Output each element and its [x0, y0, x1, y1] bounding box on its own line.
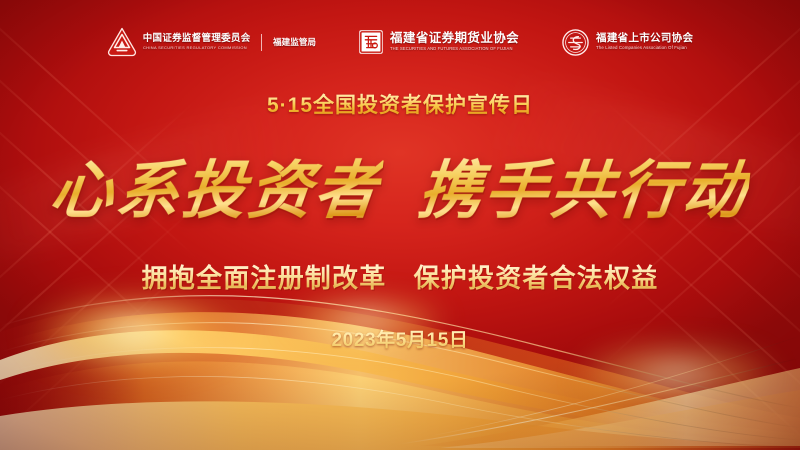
- event-date: 2023年5月15日: [0, 325, 800, 352]
- event-eyebrow: 5·15全国投资者保护宣传日: [0, 89, 800, 119]
- sub-tagline: 拥抱全面注册制改革 保护投资者合法权益: [0, 258, 800, 295]
- organization-logo-bar: 中国证券监督管理委员会 CHINA SECURITIES REGULATORY …: [0, 27, 800, 57]
- glow-highlight-right: [582, 346, 772, 406]
- logo-flca-name-en: The Listed Companies Association Of Fuji…: [596, 46, 689, 50]
- event-eyebrow-text: 5·15全国投资者保护宣传日: [267, 89, 533, 119]
- headline-left-phrase: 心系投资者: [46, 140, 386, 231]
- headline-right-phrase: 携手共行动: [415, 140, 755, 231]
- fujian-securities-seal-icon: [358, 29, 384, 55]
- logo-csrc-text: 中国证券监督管理委员会 CHINA SECURITIES REGULATORY …: [143, 34, 251, 50]
- logo-flca-name-cn: 福建省上市公司协会: [596, 33, 693, 44]
- logo-fjsfa-name-en: THE SECURITIES AND FUTURES ASSOCIATION O…: [390, 47, 514, 51]
- logo-csrc-bureau-cn: 福建监管局: [273, 36, 316, 48]
- event-date-text: 2023年5月15日: [332, 325, 469, 352]
- logo-divider: [261, 34, 262, 51]
- fujian-listed-companies-circle-icon: [561, 28, 590, 57]
- logo-csrc-name-cn: 中国证券监督管理委员会: [143, 34, 251, 44]
- logo-fjsfa-name-cn: 福建省证券期货业协会: [390, 32, 519, 45]
- csrc-triangle-emblem-icon: [107, 27, 137, 57]
- logo-fujian-securities-futures-association: 福建省证券期货业协会 THE SECURITIES AND FUTURES AS…: [358, 29, 519, 55]
- sub-tagline-text: 拥抱全面注册制改革 保护投资者合法权益: [142, 258, 659, 295]
- logo-fujian-listed-companies-association: 福建省上市公司协会 The Listed Companies Associati…: [561, 28, 693, 57]
- logo-csrc-fujian-bureau: 中国证券监督管理委员会 CHINA SECURITIES REGULATORY …: [107, 27, 316, 57]
- main-headline: 心系投资者 携手共行动: [0, 140, 800, 231]
- poster-canvas: 中国证券监督管理委员会 CHINA SECURITIES REGULATORY …: [0, 0, 800, 450]
- logo-fjsfa-text: 福建省证券期货业协会 THE SECURITIES AND FUTURES AS…: [390, 32, 519, 51]
- logo-flca-text: 福建省上市公司协会 The Listed Companies Associati…: [596, 33, 693, 51]
- logo-csrc-name-en: CHINA SECURITIES REGULATORY COMMISSION: [143, 46, 247, 50]
